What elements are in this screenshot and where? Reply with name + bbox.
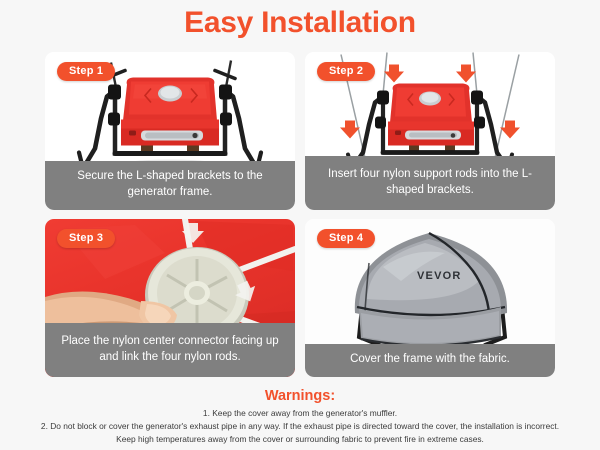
warning-item-3: Keep high temperatures away from the cov…: [0, 433, 600, 446]
warning-item-2: 2. Do not block or cover the generator's…: [0, 420, 600, 433]
infographic-page: Easy Installation: [0, 0, 600, 450]
step-panel-4[interactable]: VEVOR Step 4 Cover the frame with the fa…: [305, 219, 555, 377]
warning-item-1: 1. Keep the cover away from the generato…: [0, 407, 600, 420]
step-caption-1: Secure the L-shaped brackets to the gene…: [45, 161, 295, 210]
step-caption-2: Insert four nylon support rods into the …: [305, 156, 555, 210]
step-badge-3: Step 3: [57, 229, 115, 248]
step-badge-4: Step 4: [317, 229, 375, 248]
step-panel-3[interactable]: Step 3 Place the nylon center connector …: [45, 219, 295, 377]
step-badge-1: Step 1: [57, 62, 115, 81]
warnings-heading: Warnings:: [0, 388, 600, 404]
step-caption-4: Cover the frame with the fabric.: [305, 344, 555, 377]
warnings-section: Warnings: 1. Keep the cover away from th…: [0, 388, 600, 446]
step-badge-2: Step 2: [317, 62, 375, 81]
page-title: Easy Installation: [0, 0, 600, 39]
step-panel-2[interactable]: Step 2 Insert four nylon support rods in…: [305, 52, 555, 210]
step-panel-1[interactable]: Step 1 Secure the L-shaped brackets to t…: [45, 52, 295, 210]
brand-label: VEVOR: [417, 270, 462, 282]
step-caption-3: Place the nylon center connector facing …: [45, 323, 295, 377]
steps-grid: Step 1 Secure the L-shaped brackets to t…: [45, 52, 555, 377]
